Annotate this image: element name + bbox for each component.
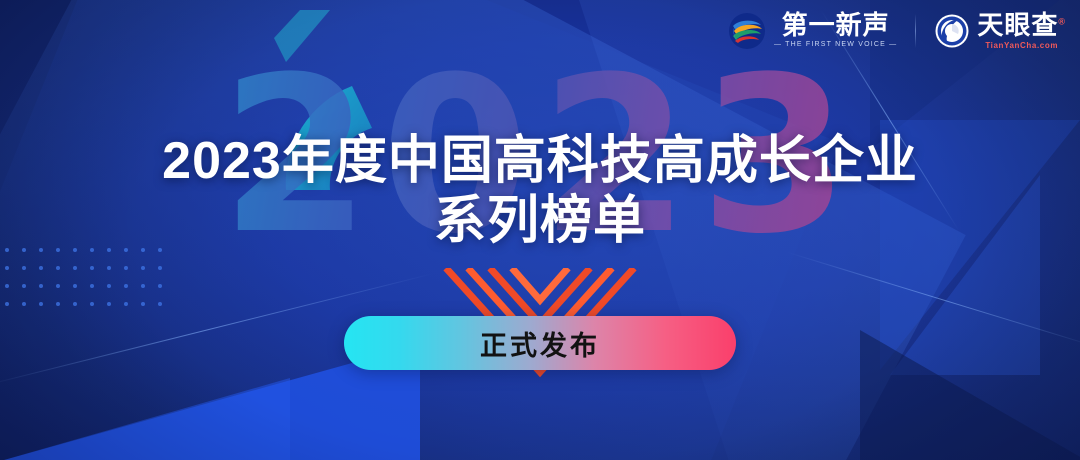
headline: 2023年度中国高科技高成长企业 系列榜单 — [0, 132, 1080, 250]
headline-line-1: 2023年度中国高科技高成长企业 — [0, 132, 1080, 190]
logo-diyixinsheng-cn: 第一新声 — [782, 12, 890, 39]
swoosh-logo-icon — [727, 12, 767, 50]
logo-diyixinsheng[interactable]: 第一新声 — THE FIRST NEW VOICE — — [727, 12, 897, 50]
logo-tianyancha[interactable]: 天眼查® TianYanCha.com — [934, 12, 1066, 49]
logo-diyixinsheng-en: — THE FIRST NEW VOICE — — [774, 41, 897, 49]
logo-divider — [915, 14, 916, 48]
registered-mark: ® — [1058, 17, 1066, 27]
logo-tianyancha-cn: 天眼查® — [977, 12, 1066, 39]
header-logos: 第一新声 — THE FIRST NEW VOICE — 天眼查® TianYa… — [727, 12, 1066, 50]
promo-banner: 2023 第一新声 — THE FIRST NEW VOICE — — [0, 0, 1080, 460]
publish-button-label: 正式发布 — [480, 324, 600, 363]
logo-tianyancha-cn-text: 天眼查 — [977, 10, 1058, 40]
publish-button[interactable]: 正式发布 — [344, 316, 736, 370]
headline-line-2: 系列榜单 — [0, 192, 1080, 250]
logo-tianyancha-en: TianYanCha.com — [985, 41, 1058, 50]
camera-lens-icon — [934, 13, 970, 49]
